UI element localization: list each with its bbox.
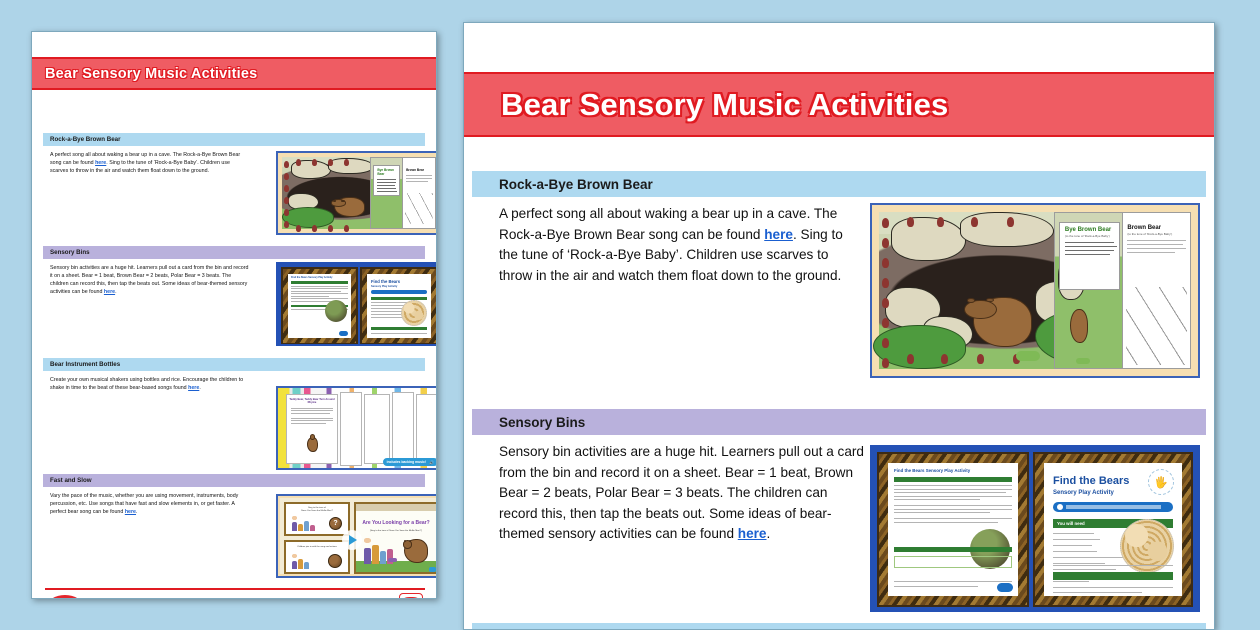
- worksheet-left-title: Find the Bears Sensory Play Activity: [288, 274, 351, 279]
- worksheet-section-label: You will need: [1057, 521, 1085, 526]
- sheet-title-zoomed: Bye Brown Bear: [1060, 223, 1119, 233]
- section-body-sensory-bins-zoomed: Sensory bin activities are a huge hit. L…: [499, 442, 864, 545]
- sheet-title-2: Brown Bear: [403, 158, 435, 172]
- section-header-fast-and-slow: Fast and Slow: [43, 474, 425, 487]
- section-heading-label: Sensory Bins: [50, 249, 90, 256]
- play-icon[interactable]: [342, 530, 362, 550]
- section-heading-label: Rock-a-Bye Brown Bear: [499, 177, 653, 192]
- section-body-text-part-1: Sensory bin activities are a huge hit. L…: [499, 444, 864, 541]
- section-body-bear-instrument-bottles: Create your own musical shakers using bo…: [50, 376, 248, 392]
- section-body-text-part-2: .: [136, 509, 137, 515]
- page-title-zoomed: Bear Sensory Music Activities: [501, 87, 948, 123]
- thumbnail-bear-songs-collection-preview[interactable]: Teddy Bear, Teddy Bear Turn Around Rhyme…: [276, 386, 437, 470]
- sheet-title-2-zoomed: Brown Bear: [1123, 213, 1190, 231]
- badge-label: includes backing music!: [387, 460, 426, 464]
- document-page-thumbnail[interactable]: Bear Sensory Music Activities Rock-a-Bye…: [31, 31, 437, 599]
- resource-sheet-preview-1-zoomed: Bye Brown Bear (to the tune of 'Rock-a-B…: [1054, 212, 1126, 369]
- page-title: Bear Sensory Music Activities: [45, 66, 257, 82]
- sheet-title: Bye Brown Bear: [374, 166, 399, 176]
- section-header-rock-a-bye-brown-bear: Rock-a-Bye Brown Bear: [43, 133, 425, 146]
- section-header-sensory-bins: Sensory Bins: [43, 246, 425, 259]
- hand-icon-stamp: 🖐: [1148, 469, 1174, 495]
- section-body-text-part-2: .: [115, 289, 116, 295]
- here-link[interactable]: here: [104, 289, 115, 295]
- section-body-text-part-1: Sensory bin activities are a huge hit. L…: [50, 265, 248, 295]
- section-body-text-part-2: .: [199, 385, 200, 391]
- thumbnail-are-you-looking-for-a-bear-powerpoint-preview[interactable]: Sing to the tune of'Have You Seen the Mu…: [276, 494, 437, 578]
- document-page-zoomed[interactable]: Bear Sensory Music Activities Rock-a-Bye…: [463, 22, 1215, 630]
- worksheet-title: Find the Bears: [367, 274, 431, 284]
- section-body-fast-and-slow: Vary the pace of the music, whether you …: [50, 492, 248, 516]
- section-header-bear-instrument-bottles: Bear Instrument Bottles: [43, 358, 425, 371]
- section-heading-label: Fast and Slow: [50, 477, 92, 484]
- song-sheet-front: Teddy Bear, Teddy Bear Turn Around Rhyme: [286, 394, 338, 464]
- here-link[interactable]: here: [188, 385, 199, 391]
- cereal-photo: [401, 300, 427, 326]
- here-link[interactable]: here: [125, 509, 136, 515]
- thumbnail-find-the-bears-worksheet-preview[interactable]: Find the Bears Sensory Play Activity: [276, 262, 437, 346]
- worksheet-link-pill: [1053, 502, 1173, 512]
- section-body-sensory-bins: Sensory bin activities are a huge hit. L…: [50, 264, 250, 296]
- slide-title: Are You Looking for a Bear?: [356, 520, 436, 526]
- footer-divider: [45, 588, 425, 590]
- slide-thumb-1: Sing to the tune of'Have You Seen the Mu…: [284, 502, 350, 536]
- slide-main: Are You Looking for a Bear? (Sing to the…: [354, 502, 437, 574]
- section-header-rock-a-bye-brown-bear-zoomed: Rock-a-Bye Brown Bear: [472, 171, 1206, 197]
- slide-thumb-2: Children join in with the song and actio…: [284, 540, 350, 574]
- speaker-icon: 🔊: [429, 460, 434, 465]
- slide-subtitle: (Sing to the tune of ‘Have You Seen the …: [362, 530, 430, 532]
- section-body-rock-a-bye-brown-bear: A perfect song all about waking a bear u…: [50, 151, 246, 175]
- section-heading-label: Bear Instrument Bottles: [50, 361, 120, 368]
- section-heading-label: Sensory Bins: [499, 415, 585, 430]
- worksheet-subtitle: Sensory Play Activity: [367, 284, 431, 288]
- resource-sheet-preview-2-zoomed: Brown Bear (to the tune of 'Rock-a-Bye B…: [1122, 212, 1191, 369]
- here-link[interactable]: here: [738, 526, 767, 541]
- resource-sheet-preview-2: Brown Bear: [402, 157, 436, 229]
- resource-sheet-preview-1: Bye Brown Bear: [370, 157, 404, 229]
- section-header-sensory-bins-zoomed: Sensory Bins: [472, 409, 1206, 435]
- document-title-band-zoomed: Bear Sensory Music Activities: [463, 72, 1215, 137]
- thumbnail-bear-cave-resource-preview[interactable]: Bye Brown Bear Brown Bear: [276, 151, 437, 235]
- here-link[interactable]: here: [764, 227, 793, 242]
- worksheet-left-title-zoomed: Find the Bears Sensory Play Activity: [888, 463, 1018, 473]
- thumbnail-find-the-bears-worksheet-preview-zoomed[interactable]: Find the Bears Sensory Play Activity: [870, 445, 1200, 612]
- section-body-text-part-1: Create your own musical shakers using bo…: [50, 377, 243, 391]
- section-body-text-part-2: .: [767, 526, 771, 541]
- section-header-bear-instrument-bottles-zoomed: Bear Instrument Bottles: [472, 623, 1206, 630]
- document-title-band: Bear Sensory Music Activities: [31, 57, 437, 90]
- song-sheet-title: Teddy Bear, Teddy Bear Turn Around Rhyme: [287, 395, 337, 405]
- bear-figure: [404, 539, 428, 563]
- section-body-text-part-1: Vary the pace of the music, whether you …: [50, 493, 238, 515]
- includes-backing-music-badge: includes backing music! 🔊: [383, 458, 437, 466]
- section-heading-label: Rock-a-Bye Brown Bear: [50, 136, 121, 143]
- twinkl-stamp: twinkl: [399, 593, 423, 599]
- twinkl-logo: twinkl: [47, 595, 83, 599]
- here-link[interactable]: here: [95, 160, 106, 166]
- section-body-rock-a-bye-brown-bear-zoomed: A perfect song all about waking a bear u…: [499, 204, 859, 286]
- thumbnail-bear-cave-resource-preview-zoomed[interactable]: Bye Brown Bear (to the tune of 'Rock-a-B…: [870, 203, 1200, 378]
